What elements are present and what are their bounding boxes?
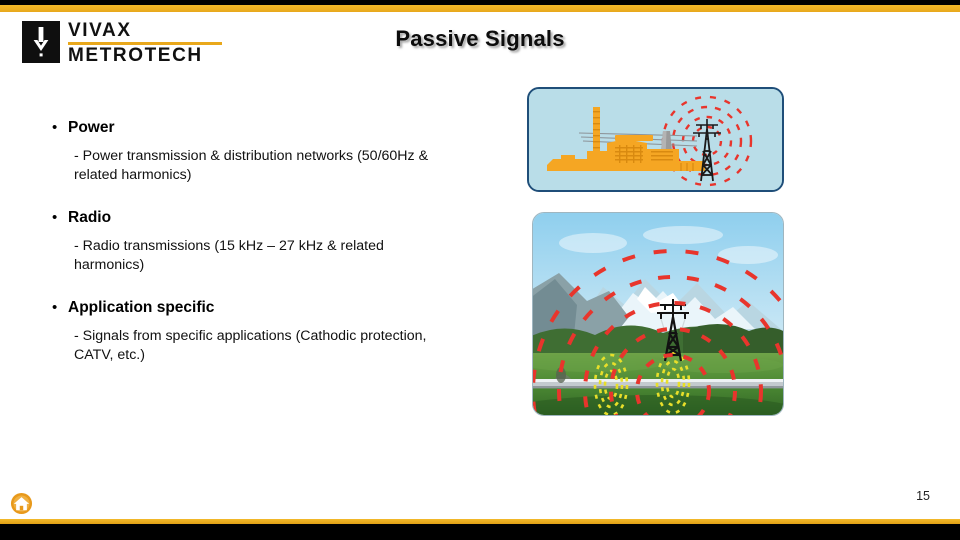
bullet-group-radio: • Radio - Radio transmissions (15 kHz – … bbox=[52, 208, 492, 275]
bullet-subtext: - Power transmission & distribution netw… bbox=[74, 147, 439, 185]
bullet-marker-icon: • bbox=[52, 118, 68, 138]
landscape-pipeline-emission-figure bbox=[532, 212, 784, 416]
slide-root: VIVAX METROTECH Passive Signals • Power … bbox=[0, 0, 960, 540]
top-gold-bar bbox=[0, 5, 960, 12]
power-plant-emission-figure bbox=[527, 87, 784, 192]
bullet-head: • Power bbox=[52, 118, 492, 138]
bullet-group-power: • Power - Power transmission & distribut… bbox=[52, 118, 492, 185]
bullet-title: Application specific bbox=[68, 298, 214, 318]
landscape-illustration bbox=[533, 213, 783, 415]
bullet-head: • Radio bbox=[52, 208, 492, 228]
bullet-subtext: - Radio transmissions (15 kHz – 27 kHz &… bbox=[74, 237, 439, 275]
bottom-black-bar bbox=[0, 524, 960, 540]
bullet-head: • Application specific bbox=[52, 298, 492, 318]
bullet-marker-icon: • bbox=[52, 208, 68, 228]
bullet-title: Radio bbox=[68, 208, 111, 228]
bullet-marker-icon: • bbox=[52, 298, 68, 318]
page-number: 15 bbox=[916, 489, 930, 503]
home-icon[interactable] bbox=[10, 492, 33, 515]
bullet-group-application-specific: • Application specific - Signals from sp… bbox=[52, 298, 492, 365]
page-title: Passive Signals bbox=[0, 26, 960, 52]
bullet-list: • Power - Power transmission & distribut… bbox=[52, 118, 492, 388]
power-plant-illustration bbox=[529, 89, 782, 190]
bullet-subtext: - Signals from specific applications (Ca… bbox=[74, 327, 439, 365]
bullet-title: Power bbox=[68, 118, 115, 138]
